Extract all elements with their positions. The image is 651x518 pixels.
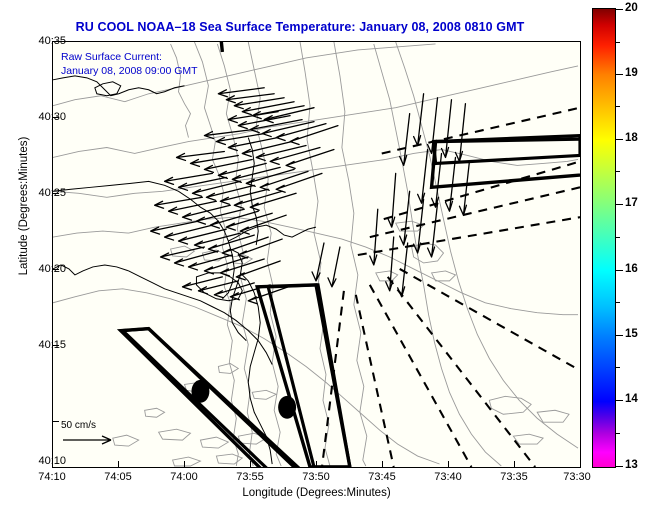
x-axis-label: Longitude (Degrees:Minutes) <box>52 487 581 499</box>
colorbar-tick <box>616 204 623 205</box>
y-tick-mark <box>52 269 59 270</box>
x-tick-label: 74:05 <box>93 471 143 483</box>
x-tick-label: 73:45 <box>357 471 407 483</box>
coastline-layer <box>53 76 316 464</box>
y-tick-mark <box>52 193 59 194</box>
x-tick-mark <box>184 461 185 468</box>
velocity-scale-key: 50 cm/s <box>61 420 121 450</box>
x-tick-mark <box>580 461 581 468</box>
y-axis-label: Latitude (Degrees:Minutes) <box>18 96 30 316</box>
colorbar-gradient <box>592 8 616 468</box>
colorbar-minor-tick <box>616 171 620 172</box>
x-tick-mark <box>52 461 53 468</box>
map-plot-area[interactable]: Raw Surface Current: January 08, 2008 09… <box>52 41 581 468</box>
colorbar-tick <box>616 466 623 467</box>
y-tick-label: 40:35 <box>20 35 66 47</box>
y-tick-mark <box>52 117 59 118</box>
x-tick-label: 74:10 <box>27 471 77 483</box>
colorbar-minor-tick <box>616 237 620 238</box>
velocity-scale-label: 50 cm/s <box>61 420 121 431</box>
station-marker <box>191 380 209 403</box>
y-tick-mark <box>52 421 59 422</box>
colorbar-label: 20 <box>625 2 638 14</box>
y-tick-label: 40:15 <box>20 339 66 351</box>
colorbar-minor-tick <box>616 433 620 434</box>
x-tick-mark <box>382 461 383 468</box>
colorbar-tick <box>616 9 623 10</box>
x-tick-label: 73:35 <box>489 471 539 483</box>
x-tick-mark <box>250 461 251 468</box>
velocity-scale-arrow-icon <box>61 433 121 447</box>
sst-contour-layer <box>53 42 578 466</box>
colorbar-tick <box>616 400 623 401</box>
colorbar-minor-tick <box>616 106 620 107</box>
colorbar-label: 16 <box>625 263 638 275</box>
x-tick-label: 73:30 <box>552 471 602 483</box>
map-canvas <box>53 42 580 467</box>
colorbar-label: 14 <box>625 393 638 405</box>
x-tick-mark <box>514 461 515 468</box>
y-tick-mark <box>52 345 59 346</box>
colorbar-minor-tick <box>616 42 620 43</box>
colorbar-tick <box>616 74 623 75</box>
page-title: RU COOL NOAA–18 Sea Surface Temperature:… <box>0 20 600 34</box>
x-tick-label: 74:00 <box>159 471 209 483</box>
surface-current-vectors <box>151 88 470 304</box>
colorbar-minor-tick <box>616 302 620 303</box>
colorbar-tick <box>616 335 623 336</box>
colorbar-label: 18 <box>625 132 638 144</box>
colorbar-label: 15 <box>625 328 638 340</box>
annotation-line-2: January 08, 2008 09:00 GMT <box>61 64 198 78</box>
annotation-block: Raw Surface Current: January 08, 2008 09… <box>61 50 198 78</box>
annotation-line-1: Raw Surface Current: <box>61 50 198 64</box>
colorbar-minor-tick <box>616 367 620 368</box>
x-tick-label: 73:40 <box>423 471 473 483</box>
colorbar-tick <box>616 270 623 271</box>
y-tick-mark <box>52 41 59 42</box>
colorbar-label: 13 <box>625 459 638 471</box>
x-tick-label: 73:55 <box>225 471 275 483</box>
x-tick-mark <box>448 461 449 468</box>
colorbar-tick <box>616 139 623 140</box>
station-marker <box>278 396 296 419</box>
y-tick-label: 40:10 <box>20 455 66 467</box>
colorbar-label: 17 <box>625 197 638 209</box>
x-tick-label: 73:50 <box>291 471 341 483</box>
sst-map-figure: RU COOL NOAA–18 Sea Surface Temperature:… <box>0 0 651 518</box>
x-tick-mark <box>118 461 119 468</box>
colorbar-label: 19 <box>625 67 638 79</box>
x-tick-mark <box>316 461 317 468</box>
